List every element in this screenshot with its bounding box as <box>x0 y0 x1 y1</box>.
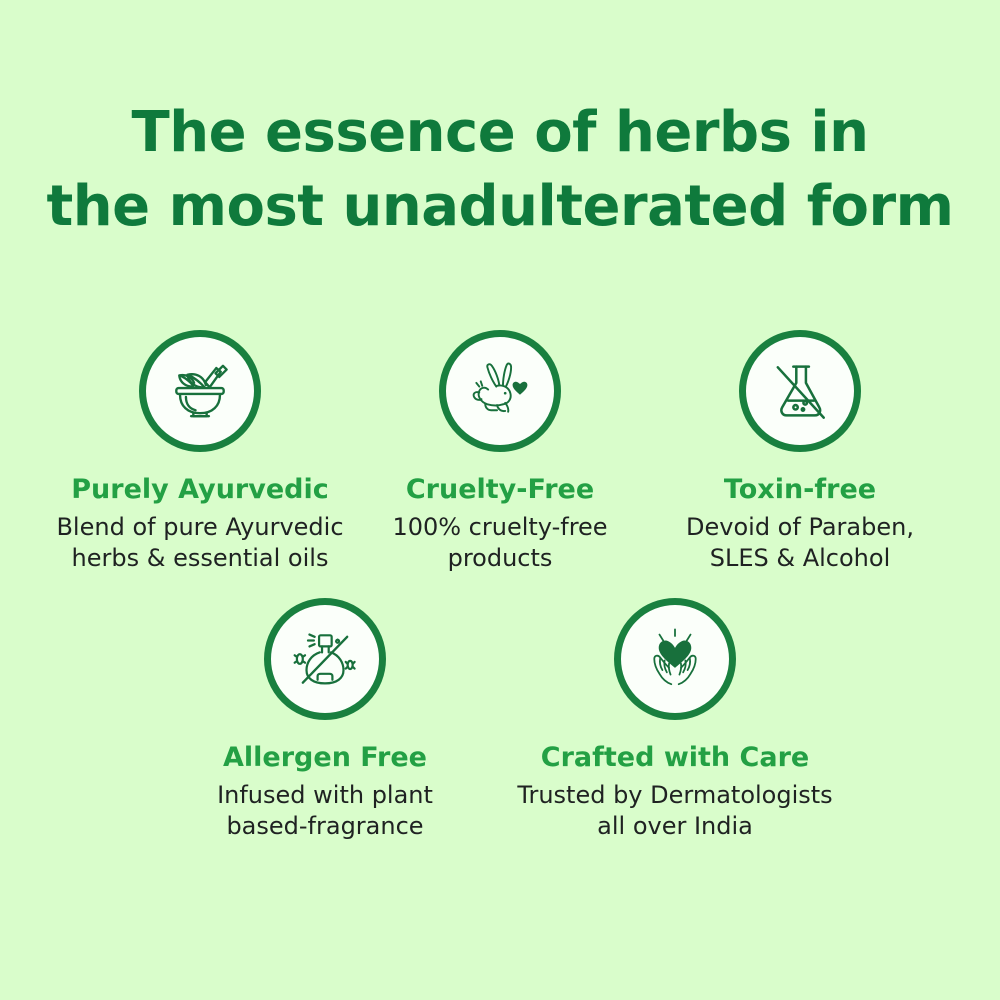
feature-title: Allergen Free <box>223 742 427 774</box>
feature-icon-badge <box>439 330 561 452</box>
feature-icon-badge <box>739 330 861 452</box>
no-chemical-flask-icon <box>763 354 837 428</box>
feature-icon-badge <box>614 598 736 720</box>
no-fragrance-spray-bottle-icon <box>288 622 362 696</box>
page-title-line-2: the most unadulterated form <box>0 170 1000 244</box>
feature-title: Cruelty-Free <box>406 474 594 506</box>
feature-title: Crafted with Care <box>541 742 809 774</box>
page-title: The essence of herbs in the most unadult… <box>0 96 1000 244</box>
feature-description-line-2: all over India <box>517 811 832 842</box>
page-title-line-1: The essence of herbs in <box>0 96 1000 170</box>
feature-allergen-free: Allergen Free Infused with plant based-f… <box>150 598 500 842</box>
feature-description-line-1: Infused with plant <box>217 780 433 811</box>
feature-title: Toxin-free <box>724 474 876 506</box>
hands-holding-heart-icon <box>638 622 712 696</box>
feature-grid: Purely Ayurvedic Blend of pure Ayurvedic… <box>0 330 1000 842</box>
rabbit-heart-icon <box>463 354 537 428</box>
feature-highlights-page: The essence of herbs in the most unadult… <box>0 0 1000 1000</box>
feature-description-line-2: SLES & Alcohol <box>686 543 914 574</box>
feature-description-line-2: based-fragrance <box>217 811 433 842</box>
feature-description-line-2: herbs & essential oils <box>56 543 343 574</box>
feature-description: 100% cruelty-free products <box>392 512 607 574</box>
feature-description: Trusted by Dermatologists all over India <box>517 780 832 842</box>
feature-description-line-1: Devoid of Paraben, <box>686 512 914 543</box>
feature-cruelty-free: Cruelty-Free 100% cruelty-free products <box>350 330 650 574</box>
feature-description-line-1: 100% cruelty-free <box>392 512 607 543</box>
feature-crafted-with-care: Crafted with Care Trusted by Dermatologi… <box>500 598 850 842</box>
feature-icon-badge <box>139 330 261 452</box>
feature-description-line-1: Blend of pure Ayurvedic <box>56 512 343 543</box>
feature-purely-ayurvedic: Purely Ayurvedic Blend of pure Ayurvedic… <box>50 330 350 574</box>
feature-description: Blend of pure Ayurvedic herbs & essentia… <box>56 512 343 574</box>
feature-row-1: Purely Ayurvedic Blend of pure Ayurvedic… <box>0 330 1000 574</box>
feature-row-2: Allergen Free Infused with plant based-f… <box>0 598 1000 842</box>
feature-title: Purely Ayurvedic <box>71 474 328 506</box>
feature-description-line-2: products <box>392 543 607 574</box>
mortar-and-pestle-icon <box>163 354 237 428</box>
feature-description: Devoid of Paraben, SLES & Alcohol <box>686 512 914 574</box>
feature-toxin-free: Toxin-free Devoid of Paraben, SLES & Alc… <box>650 330 950 574</box>
feature-description: Infused with plant based-fragrance <box>217 780 433 842</box>
feature-description-line-1: Trusted by Dermatologists <box>517 780 832 811</box>
feature-icon-badge <box>264 598 386 720</box>
